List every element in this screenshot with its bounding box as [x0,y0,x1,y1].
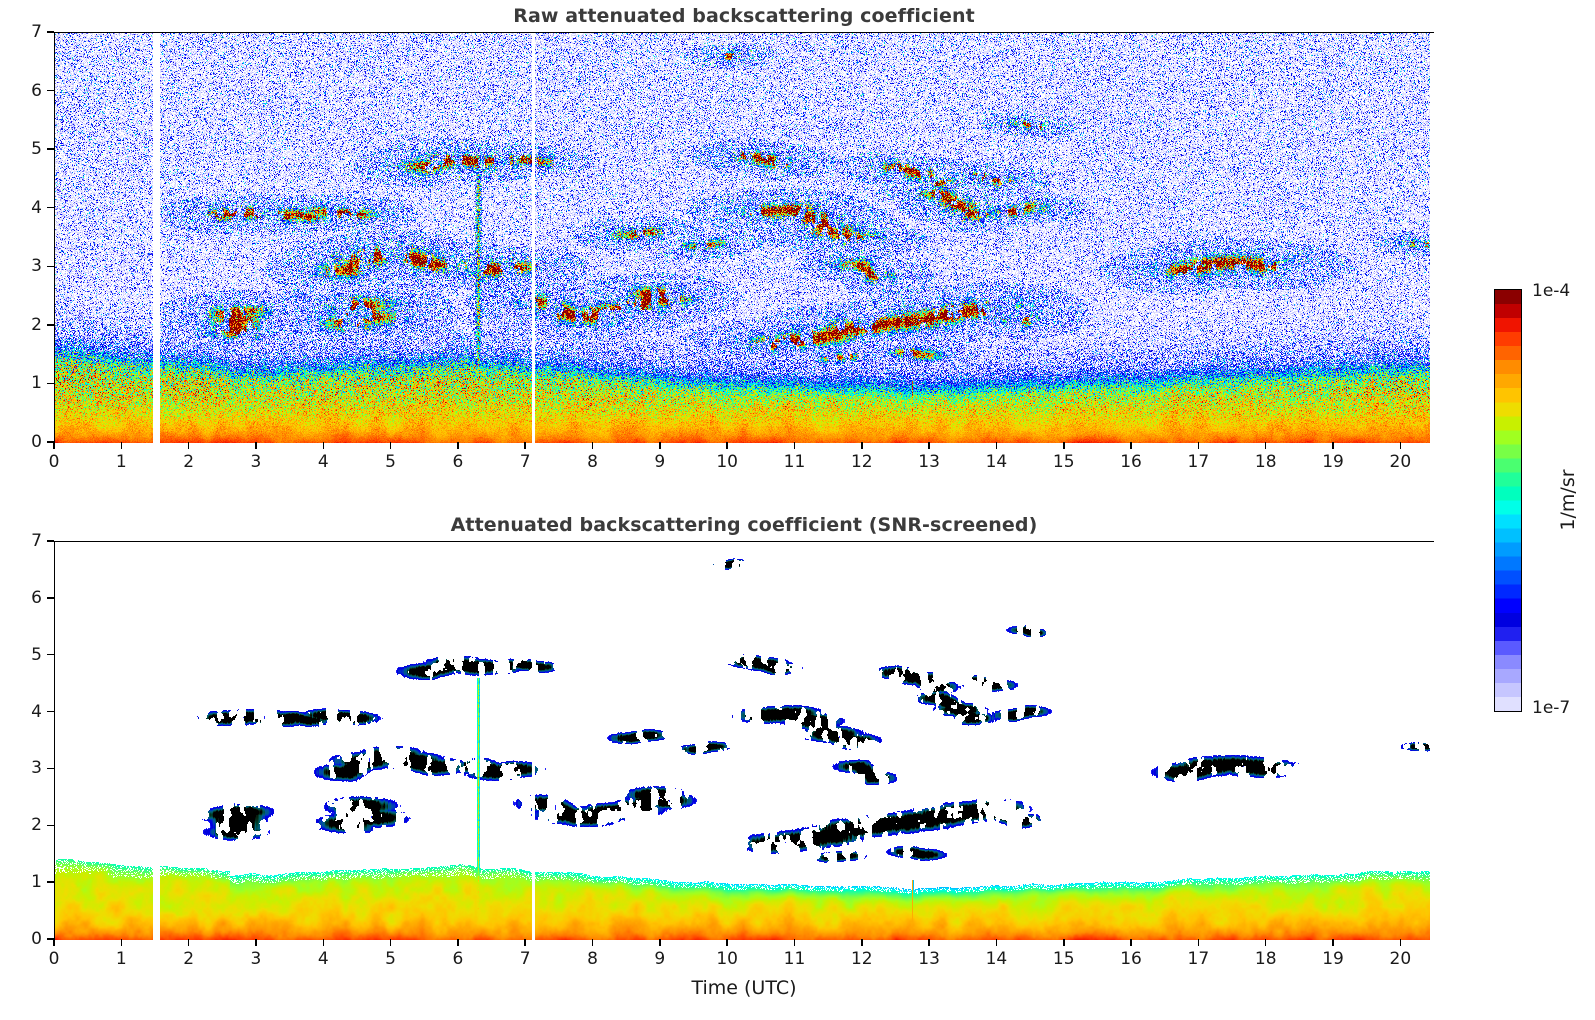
x-tick [323,442,325,449]
x-tick-label: 7 [520,949,531,969]
x-tick-label: 2 [183,949,194,969]
y-tick [47,441,54,443]
x-tick [928,939,930,946]
x-tick [524,442,526,449]
x-tick [1198,939,1200,946]
colorbar-canvas [1495,290,1521,711]
lidar-figure: Raw attenuated backscattering coefficien… [0,0,1595,1020]
y-tick [47,207,54,209]
x-tick-label: 6 [452,452,463,472]
y-tick [47,825,54,827]
x-tick [996,939,998,946]
x-tick-label: 10 [716,452,738,472]
x-tick [1400,442,1402,449]
x-tick-label: 19 [1322,452,1344,472]
x-tick [726,939,728,946]
x-tick [794,939,796,946]
x-tick-label: 3 [251,452,262,472]
x-tick-label: 11 [784,949,806,969]
y-tick [47,90,54,92]
y-tick-label: 0 [12,929,42,949]
x-tick [1130,442,1132,449]
x-tick-label: 14 [986,452,1008,472]
x-tick [457,442,459,449]
panel-screened-axes [54,541,1434,939]
x-tick-label: 8 [587,949,598,969]
y-tick [47,540,54,542]
x-tick-label: 4 [318,452,329,472]
x-tick-label: 9 [654,452,665,472]
panel-raw-heatmap [55,33,1435,443]
y-tick [47,324,54,326]
x-tick [928,442,930,449]
x-tick-label: 1 [116,949,127,969]
y-tick-label: 1 [12,373,42,393]
x-tick-label: 15 [1053,949,1075,969]
colorbar-min-label: 1e-7 [1532,698,1570,718]
x-tick [861,939,863,946]
x-tick [1332,442,1334,449]
x-tick [390,939,392,946]
y-tick-label: 2 [12,315,42,335]
x-tick-label: 13 [918,949,940,969]
y-tick-label: 5 [12,139,42,159]
y-tick-label: 7 [12,22,42,42]
x-tick [1130,939,1132,946]
x-tick-label: 18 [1255,452,1277,472]
y-tick [47,597,54,599]
x-tick [1063,939,1065,946]
y-tick [47,654,54,656]
x-tick [996,442,998,449]
x-tick-label: 7 [520,452,531,472]
x-tick-label: 17 [1188,949,1210,969]
x-tick-label: 5 [385,452,396,472]
x-tick-label: 14 [986,949,1008,969]
y-tick-label: 1 [12,872,42,892]
x-tick [659,939,661,946]
colorbar-gradient [1494,289,1522,712]
x-tick [794,442,796,449]
x-tick-label: 11 [784,452,806,472]
y-tick-label: 0 [12,432,42,452]
y-tick [47,711,54,713]
x-tick-label: 3 [251,949,262,969]
x-tick-label: 10 [716,949,738,969]
x-tick [592,442,594,449]
x-tick-label: 12 [851,949,873,969]
x-tick [53,442,55,449]
x-tick-label: 15 [1053,452,1075,472]
x-axis-label: Time (UTC) [691,977,796,999]
x-tick [524,939,526,946]
y-tick-label: 3 [12,256,42,276]
y-tick [47,31,54,33]
x-tick-label: 16 [1120,452,1142,472]
x-tick-label: 9 [654,949,665,969]
x-tick [861,442,863,449]
x-tick [188,442,190,449]
x-tick [1198,442,1200,449]
y-tick [47,383,54,385]
x-tick [592,939,594,946]
y-tick-label: 6 [12,588,42,608]
x-tick-label: 0 [49,452,60,472]
y-tick [47,768,54,770]
y-tick-label: 4 [12,198,42,218]
x-tick [457,939,459,946]
x-tick [390,442,392,449]
x-tick [1063,442,1065,449]
x-tick [659,442,661,449]
y-tick [47,266,54,268]
y-tick-label: 5 [12,645,42,665]
x-tick-label: 5 [385,949,396,969]
x-tick [188,939,190,946]
panel-raw-axes [54,32,1434,442]
colorbar-unit-label: 1/m/sr [1557,469,1579,530]
panel-raw-title: Raw attenuated backscattering coefficien… [54,5,1434,27]
x-tick [53,939,55,946]
y-tick [47,938,54,940]
x-tick-label: 20 [1390,452,1412,472]
x-tick [1332,939,1334,946]
x-tick-label: 17 [1188,452,1210,472]
x-tick [726,442,728,449]
x-tick [121,442,123,449]
x-tick-label: 18 [1255,949,1277,969]
x-tick [1400,939,1402,946]
y-tick [47,148,54,150]
x-tick-label: 6 [452,949,463,969]
x-tick-label: 1 [116,452,127,472]
x-tick [255,442,257,449]
panel-screened-heatmap [55,542,1435,940]
x-tick-label: 16 [1120,949,1142,969]
x-tick [121,939,123,946]
x-tick-label: 4 [318,949,329,969]
y-tick-label: 6 [12,81,42,101]
x-tick [1265,442,1267,449]
y-tick-label: 3 [12,758,42,778]
x-tick-label: 13 [918,452,940,472]
x-tick-label: 8 [587,452,598,472]
colorbar-max-label: 1e-4 [1532,281,1570,301]
x-tick-label: 2 [183,452,194,472]
y-tick-label: 2 [12,815,42,835]
panel-screened-title: Attenuated backscattering coefficient (S… [54,514,1434,536]
y-tick-label: 4 [12,702,42,722]
x-tick-label: 19 [1322,949,1344,969]
x-tick [323,939,325,946]
x-tick-label: 20 [1390,949,1412,969]
y-tick-label: 7 [12,531,42,551]
x-tick-label: 12 [851,452,873,472]
x-tick-label: 0 [49,949,60,969]
y-tick [47,881,54,883]
x-tick [1265,939,1267,946]
x-tick [255,939,257,946]
